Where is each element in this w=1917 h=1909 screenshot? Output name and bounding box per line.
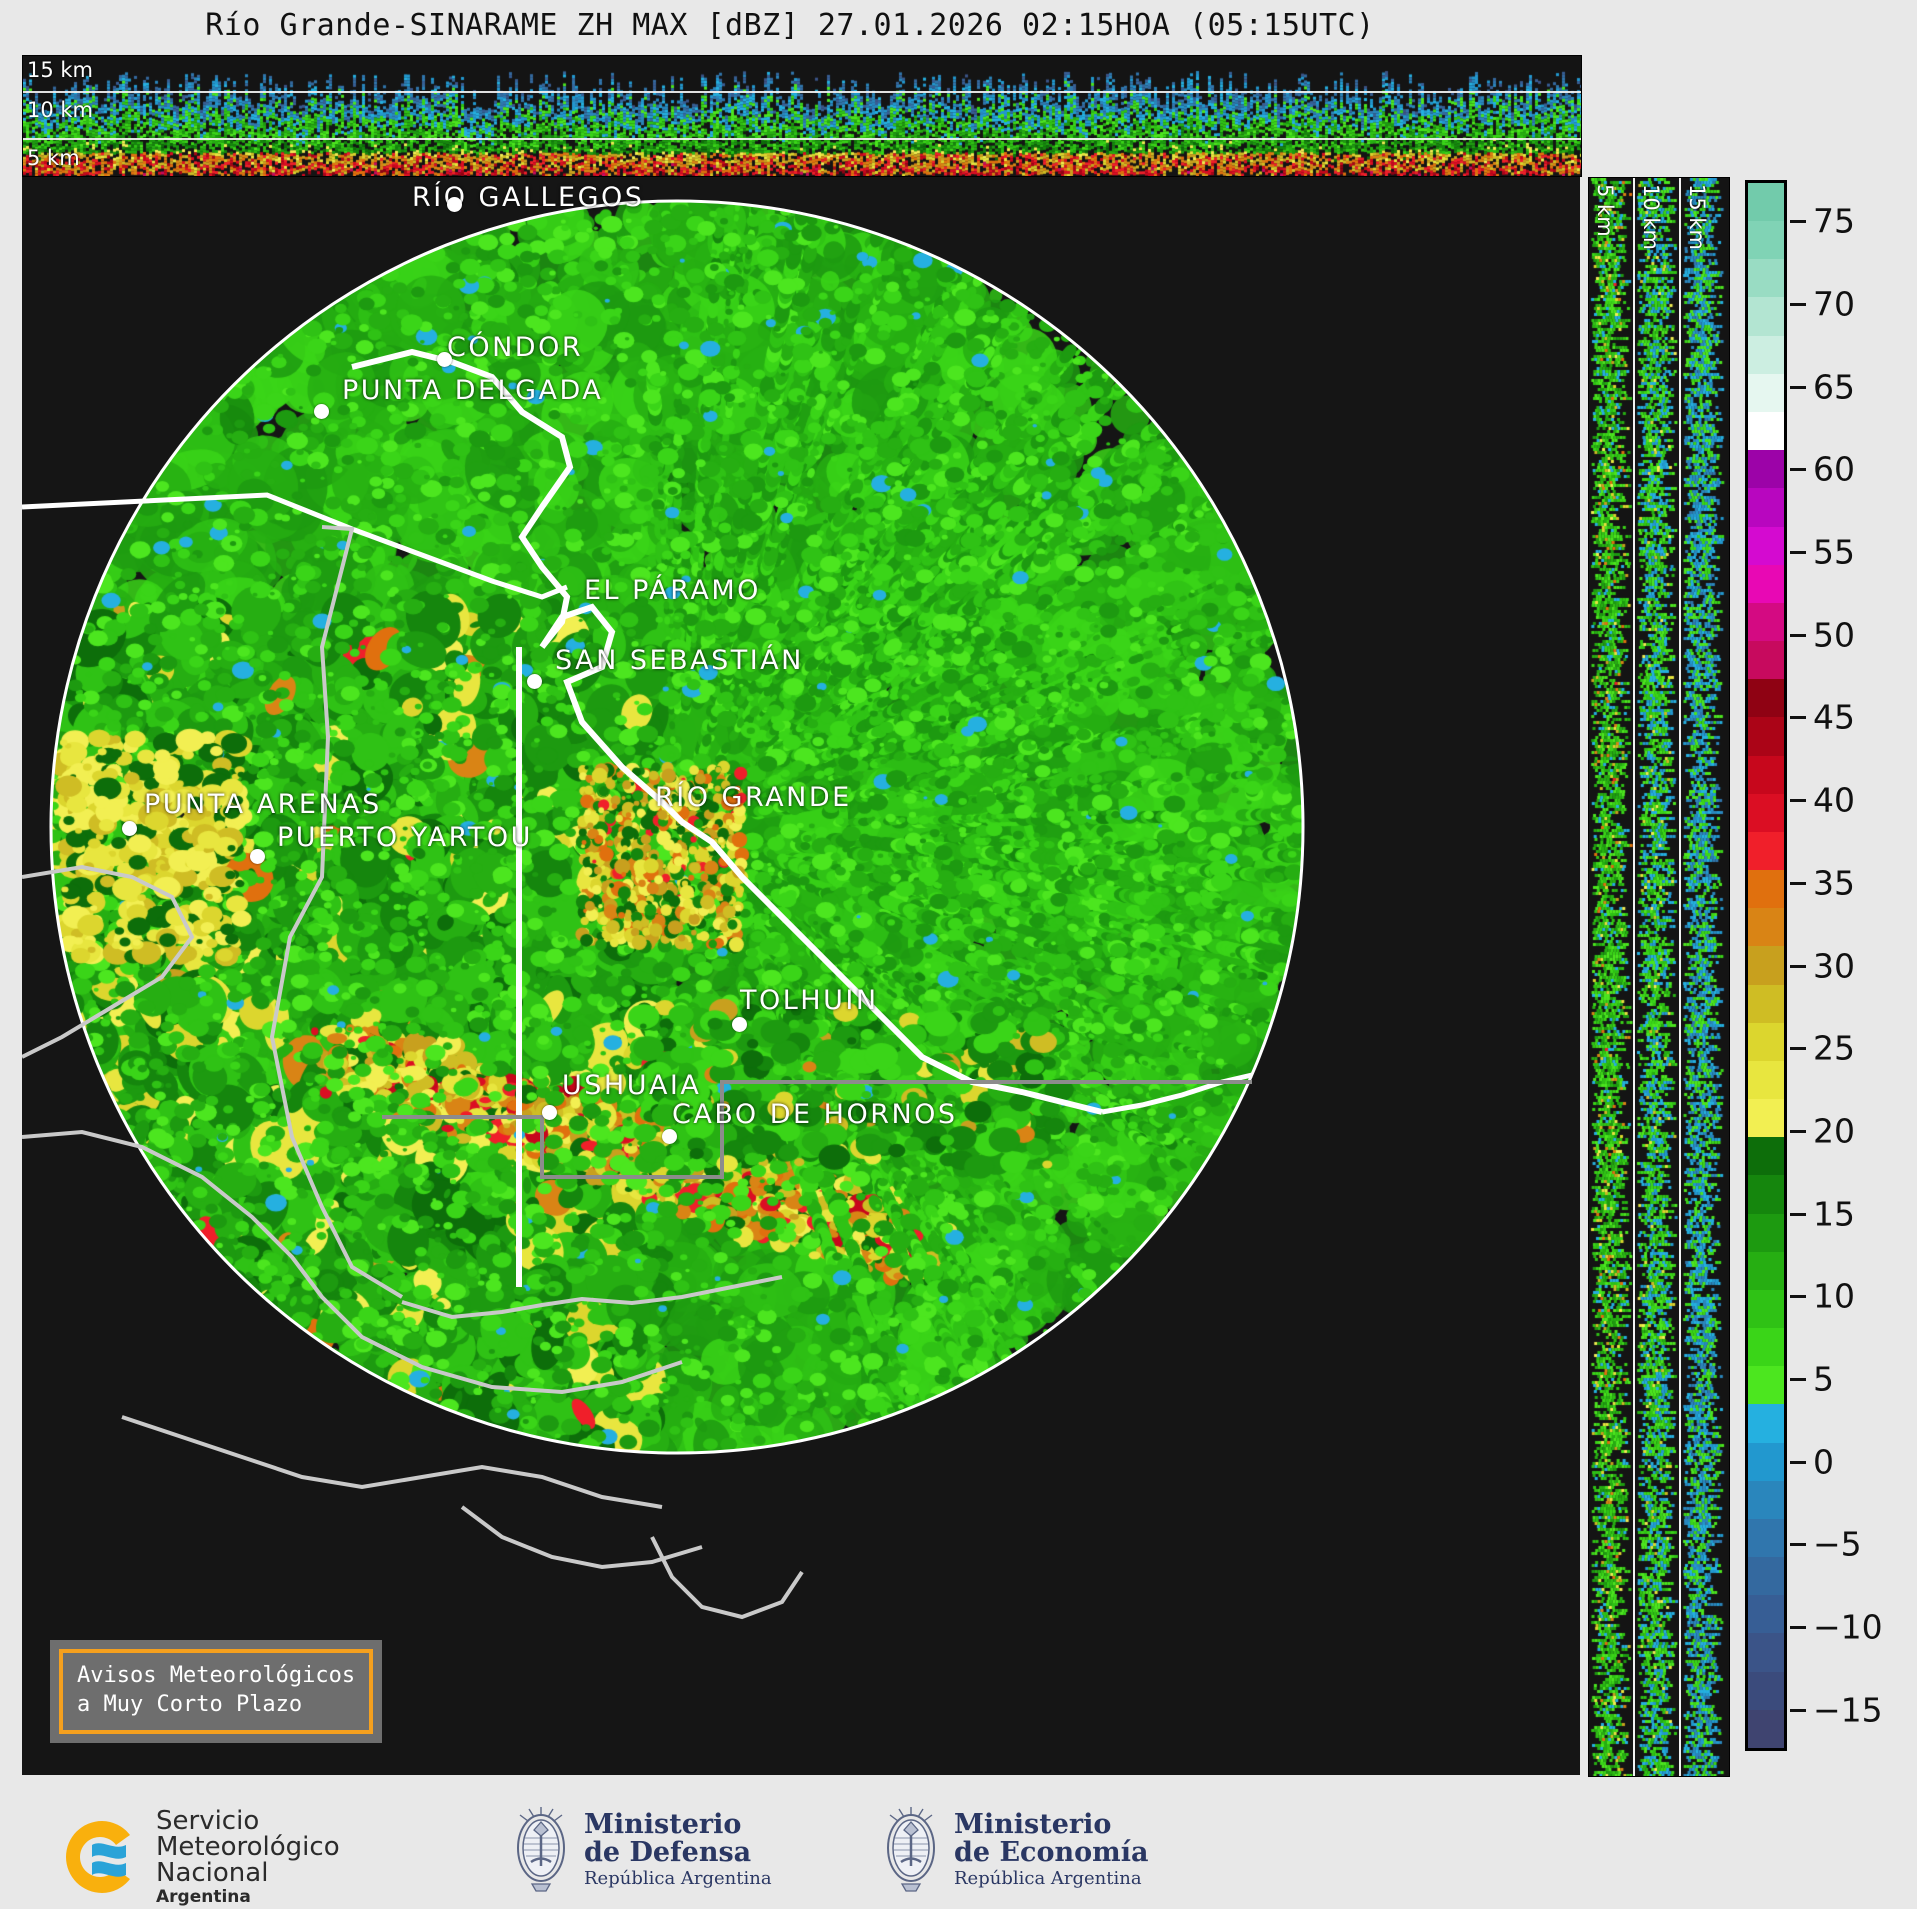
colorbar-tick bbox=[1790, 1295, 1806, 1298]
colorbar-band-23 bbox=[1748, 832, 1784, 870]
colorbar-band-27 bbox=[1748, 679, 1784, 717]
defensa-text-block: Ministerio de Defensa República Argentin… bbox=[584, 1811, 772, 1890]
economia-text-block: Ministerio de Economía República Argenti… bbox=[954, 1811, 1148, 1890]
coastline-island-extra bbox=[652, 1537, 802, 1617]
city-marker-dot bbox=[447, 197, 462, 212]
colorbar-band-16 bbox=[1748, 1099, 1784, 1137]
colorbar-band-7 bbox=[1748, 1443, 1784, 1481]
colorbar-band-35 bbox=[1748, 374, 1784, 412]
colorbar-band-33 bbox=[1748, 450, 1784, 488]
city-label-cabo-de-hornos: CABO DE HORNOS bbox=[672, 1099, 958, 1130]
coastline-southwest bbox=[22, 1132, 682, 1392]
avisos-line-2: a Muy Corto Plazo bbox=[77, 1692, 302, 1717]
logo-ministerio-economia: Ministerio de Economía República Argenti… bbox=[880, 1804, 1148, 1896]
border-line-north bbox=[22, 495, 567, 597]
colorbar-band-39 bbox=[1748, 221, 1784, 259]
vline-5km bbox=[1633, 178, 1635, 1776]
city-label-punta-arenas: PUNTA ARENAS bbox=[144, 789, 382, 820]
city-label-el-p-ramo: EL PÁRAMO bbox=[584, 575, 761, 606]
cross-section-top-echo bbox=[23, 56, 1581, 176]
coastline-atlantic bbox=[542, 607, 1102, 1112]
colorbar-tick bbox=[1790, 1213, 1806, 1216]
smn-emblem-icon bbox=[58, 1815, 146, 1899]
smn-line-2: Meteorológico bbox=[156, 1834, 340, 1860]
colorbar-band-21 bbox=[1748, 908, 1784, 946]
height-label-right-5km: 5 km bbox=[1593, 184, 1617, 237]
colorbar-band-18 bbox=[1748, 1023, 1784, 1061]
colorbar-band-10 bbox=[1748, 1328, 1784, 1366]
colorbar-gradient bbox=[1745, 180, 1787, 1751]
economia-line-3: República Argentina bbox=[954, 1870, 1148, 1889]
cross-section-top-panel: 15 km 10 km 5 km bbox=[22, 55, 1582, 177]
page-title: Río Grande-SINARAME ZH MAX [dBZ] 27.01.2… bbox=[0, 8, 1580, 43]
city-label-ushuaia: USHUAIA bbox=[562, 1070, 701, 1101]
colorbar-band-22 bbox=[1748, 870, 1784, 908]
colorbar-band-1 bbox=[1748, 1672, 1784, 1710]
range-ring bbox=[51, 201, 1303, 1453]
colorbar-band-36 bbox=[1748, 336, 1784, 374]
avisos-warning-box[interactable]: Avisos Meteorológicos a Muy Corto Plazo bbox=[50, 1640, 382, 1743]
avisos-line-1: Avisos Meteorológicos bbox=[77, 1663, 355, 1688]
colorbar-tick-label: 50 bbox=[1813, 615, 1855, 654]
city-label-punta-delgada: PUNTA DELGADA bbox=[342, 375, 603, 406]
smn-line-3: Nacional bbox=[156, 1860, 340, 1886]
defensa-line-3: República Argentina bbox=[584, 1870, 772, 1889]
city-marker-dot bbox=[314, 404, 329, 419]
logo-smn: Servicio Meteorológico Nacional Argentin… bbox=[58, 1808, 340, 1906]
colorbar-band-31 bbox=[1748, 527, 1784, 565]
city-marker-dot bbox=[732, 1017, 747, 1032]
smn-line-4: Argentina bbox=[156, 1889, 340, 1906]
colorbar-band-37 bbox=[1748, 297, 1784, 335]
colorbar-tick-label: −10 bbox=[1813, 1607, 1883, 1646]
city-label-tolhuin: TOLHUIN bbox=[740, 985, 879, 1016]
colorbar-tick-label: −15 bbox=[1813, 1690, 1883, 1729]
colorbar-tick bbox=[1790, 386, 1806, 389]
colorbar-band-28 bbox=[1748, 641, 1784, 679]
colorbar-tick bbox=[1790, 220, 1806, 223]
city-label-san-sebasti-n: SAN SEBASTIÁN bbox=[555, 645, 804, 676]
argentina-coat-of-arms-icon bbox=[510, 1804, 572, 1896]
radar-plan-view[interactable]: RÍO GALLEGOSCÓNDORPUNTA DELGADAEL PÁRAMO… bbox=[22, 177, 1580, 1775]
colorbar-tick bbox=[1790, 1461, 1806, 1464]
colorbar-tick bbox=[1790, 468, 1806, 471]
coastline-south-islands bbox=[122, 1417, 662, 1507]
gridline-15km bbox=[23, 91, 1581, 93]
smn-line-1: Servicio bbox=[156, 1808, 340, 1834]
colorbar-tick-label: 10 bbox=[1813, 1277, 1855, 1316]
cross-section-right-panel: 5 km 10 km 15 km bbox=[1588, 177, 1730, 1777]
city-marker-dot bbox=[122, 821, 137, 836]
colorbar-band-26 bbox=[1748, 717, 1784, 755]
colorbar-tick bbox=[1790, 1543, 1806, 1546]
colorbar-tick-label: 30 bbox=[1813, 946, 1855, 985]
colorbar-band-11 bbox=[1748, 1290, 1784, 1328]
colorbar-tick bbox=[1790, 1378, 1806, 1381]
coastline-hornos bbox=[462, 1507, 702, 1567]
city-label-r-o-gallegos: RÍO GALLEGOS bbox=[412, 182, 644, 213]
colorbar-band-38 bbox=[1748, 259, 1784, 297]
colorbar-band-20 bbox=[1748, 946, 1784, 984]
height-label-5km: 5 km bbox=[27, 146, 80, 170]
colorbar-tick-label: 70 bbox=[1813, 285, 1855, 324]
colorbar-tick bbox=[1790, 551, 1806, 554]
colorbar-band-14 bbox=[1748, 1175, 1784, 1213]
colorbar-band-5 bbox=[1748, 1519, 1784, 1557]
colorbar-band-40 bbox=[1748, 183, 1784, 221]
colorbar-tick-label: 75 bbox=[1813, 202, 1855, 241]
city-label-r-o-grande: RÍO GRANDE bbox=[655, 782, 852, 813]
colorbar-tick bbox=[1790, 634, 1806, 637]
colorbar-tick bbox=[1790, 799, 1806, 802]
colorbar-band-3 bbox=[1748, 1595, 1784, 1633]
colorbar-band-0 bbox=[1748, 1710, 1784, 1748]
colorbar-tick-label: 60 bbox=[1813, 450, 1855, 489]
colorbar-band-30 bbox=[1748, 565, 1784, 603]
argentina-coat-of-arms-icon-2 bbox=[880, 1804, 942, 1896]
defensa-line-2: de Defensa bbox=[584, 1839, 772, 1867]
colorbar-tick-label: 55 bbox=[1813, 533, 1855, 572]
colorbar-tick-label: 25 bbox=[1813, 1029, 1855, 1068]
defensa-line-1: Ministerio bbox=[584, 1811, 772, 1839]
colorbar-tick-label: 65 bbox=[1813, 367, 1855, 406]
city-label-c-ndor: CÓNDOR bbox=[447, 332, 583, 363]
city-marker-dot bbox=[250, 849, 265, 864]
colorbar-tick-label: 0 bbox=[1813, 1442, 1834, 1481]
coastline-west bbox=[22, 867, 192, 1057]
colorbar-band-8 bbox=[1748, 1404, 1784, 1442]
city-marker-dot bbox=[437, 352, 452, 367]
colorbar-band-4 bbox=[1748, 1557, 1784, 1595]
colorbar-band-9 bbox=[1748, 1366, 1784, 1404]
economia-line-1: Ministerio bbox=[954, 1811, 1148, 1839]
colorbar-band-34 bbox=[1748, 412, 1784, 450]
gridline-10km bbox=[23, 138, 1581, 140]
colorbar-tick-label: 20 bbox=[1813, 1111, 1855, 1150]
economia-line-2: de Economía bbox=[954, 1839, 1148, 1867]
logo-ministerio-defensa: Ministerio de Defensa República Argentin… bbox=[510, 1804, 772, 1896]
border-line-chile bbox=[272, 527, 402, 1297]
colorbar-tick bbox=[1790, 1709, 1806, 1712]
height-label-10km: 10 km bbox=[27, 98, 93, 122]
colorbar-tick-label: 15 bbox=[1813, 1194, 1855, 1233]
map-vector-overlay bbox=[22, 177, 1580, 1775]
colorbar-band-6 bbox=[1748, 1481, 1784, 1519]
city-label-puerto-yartou: PUERTO YARTOU bbox=[277, 822, 533, 853]
colorbar-tick bbox=[1790, 882, 1806, 885]
city-marker-dot bbox=[542, 1105, 557, 1120]
colorbar-band-32 bbox=[1748, 488, 1784, 526]
colorbar-tick bbox=[1790, 303, 1806, 306]
colorbar-tick-label: −5 bbox=[1813, 1525, 1862, 1564]
colorbar: 757065605550454035302520151050−5−10−15 bbox=[1745, 180, 1895, 1775]
colorbar-band-25 bbox=[1748, 756, 1784, 794]
height-label-15km: 15 km bbox=[27, 58, 93, 82]
colorbar-tick bbox=[1790, 716, 1806, 719]
colorbar-band-19 bbox=[1748, 985, 1784, 1023]
colorbar-band-15 bbox=[1748, 1137, 1784, 1175]
colorbar-tick bbox=[1790, 965, 1806, 968]
coastline-beagle bbox=[402, 1277, 782, 1317]
colorbar-tick-label: 35 bbox=[1813, 863, 1855, 902]
colorbar-tick bbox=[1790, 1130, 1806, 1133]
city-marker-dot bbox=[662, 1129, 677, 1144]
colorbar-tick-label: 5 bbox=[1813, 1359, 1834, 1398]
city-marker-dot bbox=[527, 674, 542, 689]
colorbar-tick bbox=[1790, 1047, 1806, 1050]
cross-section-right-echo bbox=[1589, 178, 1729, 1776]
colorbar-tick-label: 45 bbox=[1813, 698, 1855, 737]
smn-text-block: Servicio Meteorológico Nacional Argentin… bbox=[156, 1808, 340, 1906]
colorbar-tick-label: 40 bbox=[1813, 781, 1855, 820]
colorbar-band-29 bbox=[1748, 603, 1784, 641]
colorbar-tick bbox=[1790, 1626, 1806, 1629]
avisos-inner-frame: Avisos Meteorológicos a Muy Corto Plazo bbox=[59, 1649, 373, 1734]
height-label-right-10km: 10 km bbox=[1639, 184, 1663, 250]
height-label-right-15km: 15 km bbox=[1685, 184, 1709, 250]
footer-logos: Servicio Meteorológico Nacional Argentin… bbox=[0, 1790, 1917, 1909]
colorbar-band-17 bbox=[1748, 1061, 1784, 1099]
colorbar-band-24 bbox=[1748, 794, 1784, 832]
colorbar-band-2 bbox=[1748, 1633, 1784, 1671]
colorbar-band-13 bbox=[1748, 1214, 1784, 1252]
vline-10km bbox=[1679, 178, 1681, 1776]
colorbar-band-12 bbox=[1748, 1252, 1784, 1290]
